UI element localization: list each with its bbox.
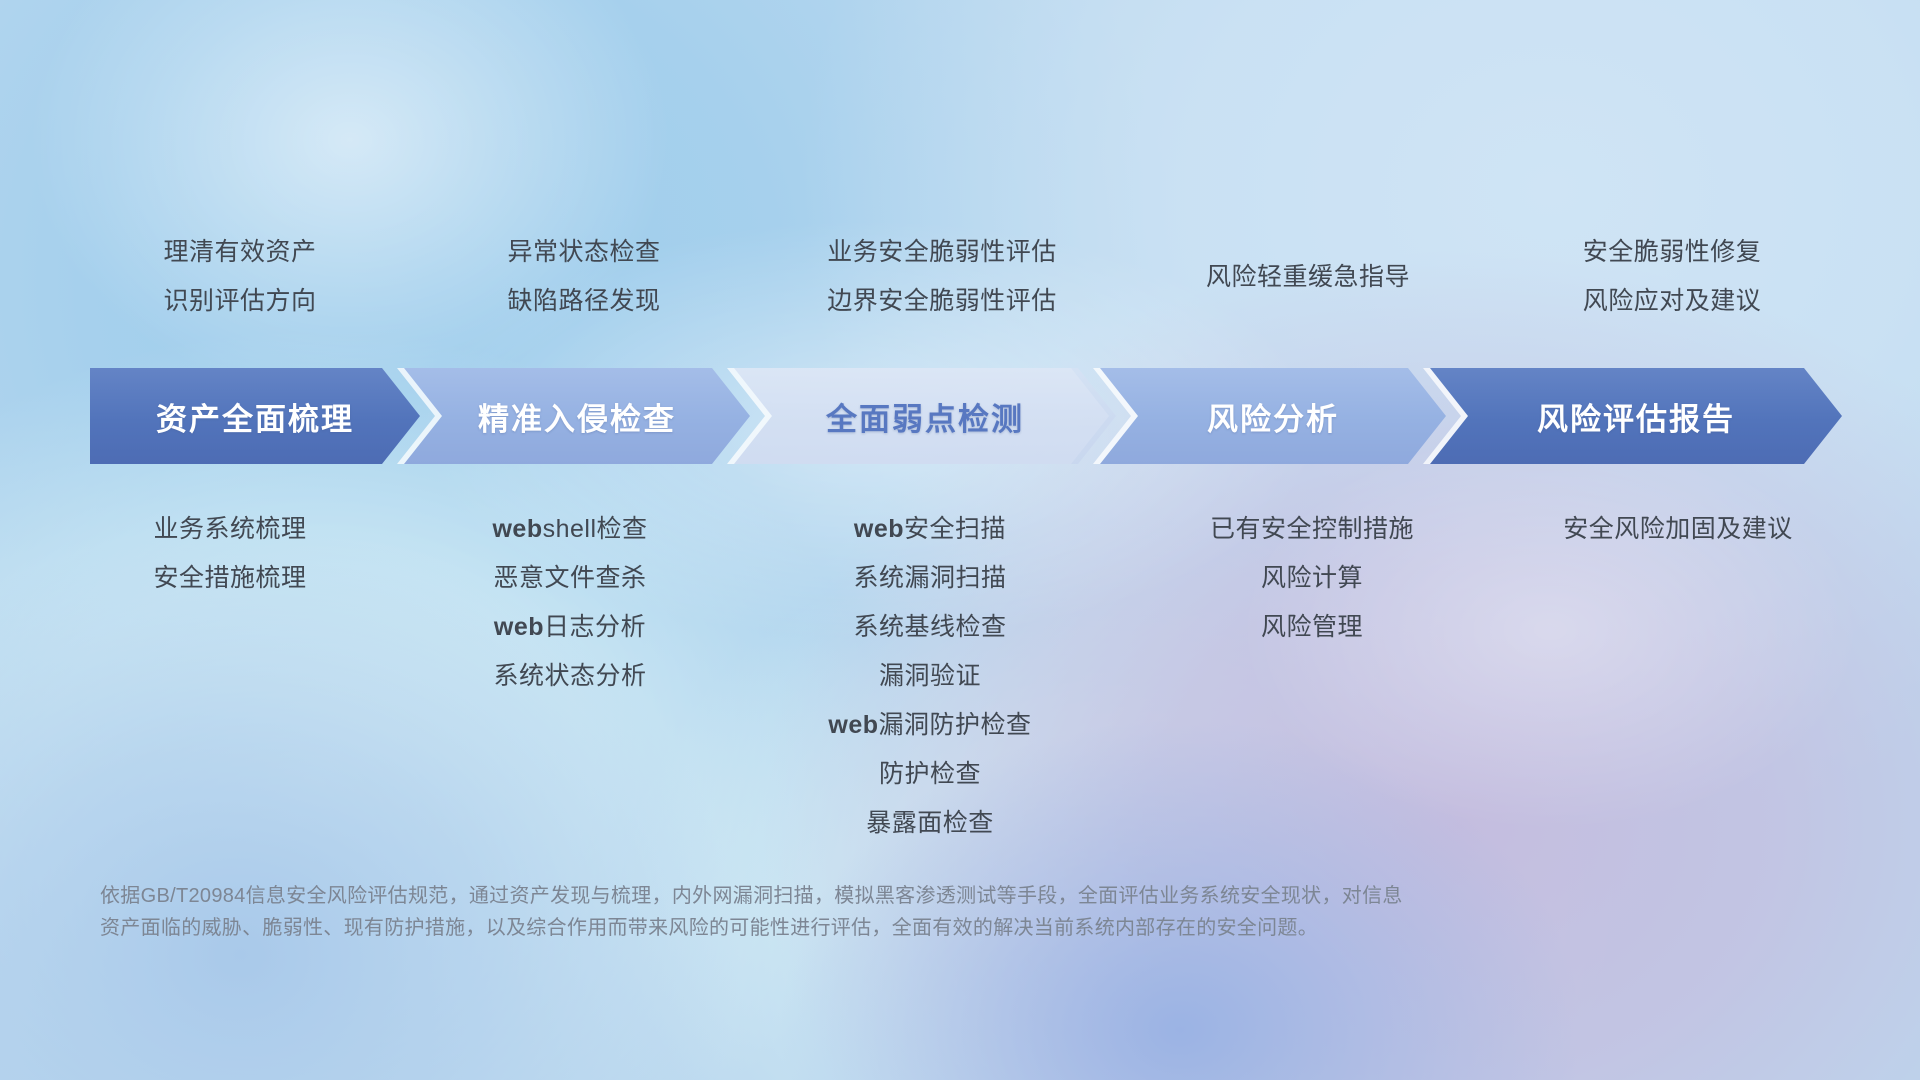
step-outputs-1: 业务系统梳理 安全措施梳理 [50,505,410,603]
process-step-label: 资产全面梳理 [156,394,354,439]
process-step-3[interactable]: 全面弱点检测 [734,368,1116,464]
input-item: 边界安全脆弱性评估 [752,277,1132,326]
step-inputs-4: 风险轻重缓急指导 [1128,253,1488,302]
output-item: 防护检查 [740,750,1120,799]
process-step-label: 全面弱点检测 [826,394,1024,439]
input-item: 风险轻重缓急指导 [1128,253,1488,302]
step-inputs-3: 业务安全脆弱性评估 边界安全脆弱性评估 [752,228,1132,326]
step-inputs-5: 安全脆弱性修复 风险应对及建议 [1492,228,1852,326]
input-item: 理清有效资产 [60,228,420,277]
footer-description: 依据GB/T20984信息安全风险评估规范，通过资产发现与梳理，内外网漏洞扫描，… [100,880,1660,944]
output-item: 恶意文件查杀 [390,554,750,603]
input-item: 识别评估方向 [60,277,420,326]
output-item: 风险管理 [1132,603,1492,652]
process-step-label: 精准入侵检查 [478,394,676,439]
process-chevron-band: 资产全面梳理 精准入侵检查 全面弱点检测 风险分析 风险评估报告 [0,368,1920,464]
output-item: 系统漏洞扫描 [740,554,1120,603]
output-item: 暴露面检查 [740,799,1120,848]
step-inputs-2: 异常状态检查 缺陷路径发现 [404,228,764,326]
step-inputs-1: 理清有效资产 识别评估方向 [60,228,420,326]
process-step-4[interactable]: 风险分析 [1100,368,1446,464]
footer-line-2: 资产面临的威胁、脆弱性、现有防护措施，以及综合作用而带来风险的可能性进行评估，全… [100,912,1660,944]
output-item: 风险计算 [1132,554,1492,603]
process-step-5[interactable]: 风险评估报告 [1430,368,1842,464]
output-item: web漏洞防护检查 [740,701,1120,750]
output-item: webshell检查 [390,505,750,554]
process-step-label: 风险分析 [1207,394,1339,439]
output-item: 系统基线检查 [740,603,1120,652]
output-item: web安全扫描 [740,505,1120,554]
output-item: 漏洞验证 [740,652,1120,701]
footer-line-1: 依据GB/T20984信息安全风险评估规范，通过资产发现与梳理，内外网漏洞扫描，… [100,880,1660,912]
step-outputs-5: 安全风险加固及建议 [1478,505,1878,554]
step-outputs-2: webshell检查 恶意文件查杀 web日志分析 系统状态分析 [390,505,750,701]
output-item: 已有安全控制措施 [1132,505,1492,554]
step-outputs-4: 已有安全控制措施 风险计算 风险管理 [1132,505,1492,652]
output-item: 安全风险加固及建议 [1478,505,1878,554]
process-step-2[interactable]: 精准入侵检查 [404,368,750,464]
input-item: 业务安全脆弱性评估 [752,228,1132,277]
input-item: 安全脆弱性修复 [1492,228,1852,277]
output-item: 业务系统梳理 [50,505,410,554]
step-outputs-3: web安全扫描 系统漏洞扫描 系统基线检查 漏洞验证 web漏洞防护检查 防护检… [740,505,1120,848]
process-step-1[interactable]: 资产全面梳理 [90,368,420,464]
output-item: web日志分析 [390,603,750,652]
output-item: 安全措施梳理 [50,554,410,603]
slide-canvas: 理清有效资产 识别评估方向 异常状态检查 缺陷路径发现 业务安全脆弱性评估 边界… [0,0,1920,1080]
process-step-label: 风险评估报告 [1537,394,1735,439]
input-item: 异常状态检查 [404,228,764,277]
input-item: 缺陷路径发现 [404,277,764,326]
input-item: 风险应对及建议 [1492,277,1852,326]
output-item: 系统状态分析 [390,652,750,701]
